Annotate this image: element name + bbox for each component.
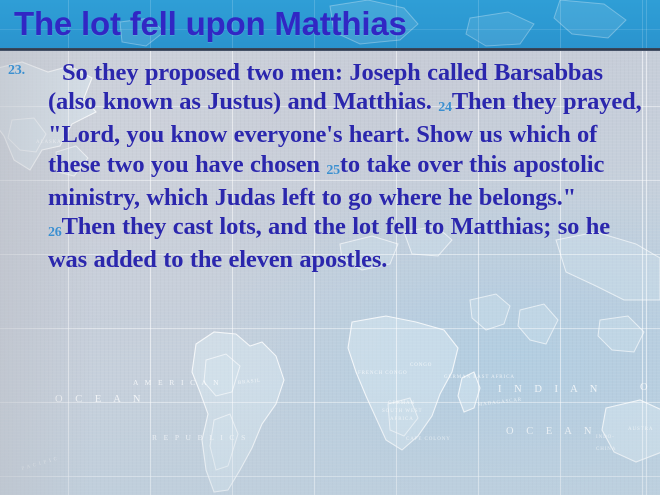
page-title: The lot fell upon Matthias bbox=[14, 1, 407, 47]
scripture-body: 23.So they proposed two men: Joseph call… bbox=[0, 58, 660, 274]
scripture-run-4: Then they cast lots, and the lot fell to… bbox=[48, 213, 610, 273]
verse-number-26: 26 bbox=[48, 225, 62, 240]
slide-title-band: The lot fell upon Matthias bbox=[0, 0, 660, 48]
verse-number-23: 23. bbox=[8, 62, 25, 80]
title-divider-rule bbox=[0, 48, 660, 51]
presentation-slide: O C E A N A M E R I C A N R E P U B L I … bbox=[0, 0, 660, 495]
verse-number-24: 24 bbox=[438, 100, 452, 115]
scripture-paragraph: 23.So they proposed two men: Joseph call… bbox=[0, 58, 660, 274]
verse-number-25: 25 bbox=[326, 163, 340, 178]
